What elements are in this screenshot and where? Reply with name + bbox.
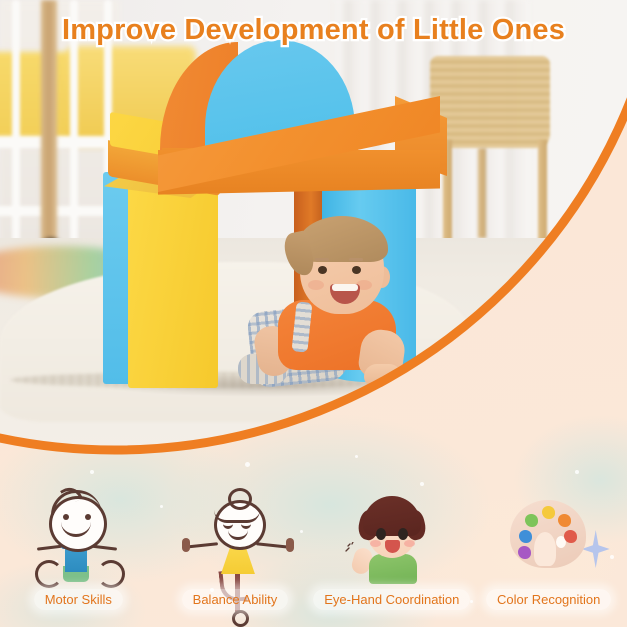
leg-left (35, 560, 63, 588)
motion-lines-icon (345, 542, 357, 554)
foam-block-yellow-tower (128, 186, 218, 388)
arm-right (256, 542, 290, 549)
feature-item-motor-skills[interactable]: Motor Skills (0, 470, 157, 627)
paint-dab (558, 514, 571, 527)
feature-label: Eye-Hand Coordination (313, 589, 470, 610)
eye (376, 528, 386, 540)
feature-item-eye-hand-coordination[interactable]: Eye-Hand Coordination (313, 470, 470, 627)
shirt (369, 554, 417, 584)
baby-eyebrow (349, 258, 363, 261)
hand-left (182, 538, 190, 552)
baby-eye (318, 266, 327, 274)
baby-eye (352, 266, 361, 274)
paint-dab (564, 530, 577, 543)
feature-item-color-recognition[interactable]: Color Recognition (470, 470, 627, 627)
sparkle-icon (582, 530, 610, 568)
hair-bun (228, 488, 252, 510)
eye (398, 528, 408, 540)
baby-cheek (308, 280, 324, 290)
woven-basket (430, 56, 550, 148)
feature-label: Color Recognition (486, 589, 611, 610)
product-photo (0, 0, 627, 470)
paint-dab (542, 506, 555, 519)
baby-teeth (332, 284, 358, 291)
basket-leg (538, 140, 547, 250)
product-feature-poster: Improve Development of Little Ones Motor… (0, 0, 627, 627)
palette-thumb-hole (534, 532, 556, 566)
feature-list: Motor Skills Balance Ability (0, 470, 627, 627)
baby-eyebrow (315, 258, 329, 261)
paint-palette-icon (494, 488, 604, 583)
foot (232, 610, 249, 627)
baby-crawling (238, 222, 420, 387)
hair (363, 496, 421, 536)
hand-right (286, 538, 294, 552)
cheek (404, 540, 415, 547)
cheek (370, 540, 381, 547)
paint-dab (519, 530, 532, 543)
leg-right (97, 560, 125, 588)
feature-item-balance-ability[interactable]: Balance Ability (157, 470, 314, 627)
feature-label: Balance Ability (182, 589, 289, 610)
baby-hand (364, 364, 402, 386)
product-photo-region (0, 0, 627, 470)
paint-dab (518, 546, 531, 559)
waving-boy-icon (337, 488, 447, 583)
feature-label: Motor Skills (34, 589, 123, 610)
basket-leg (478, 148, 486, 238)
balancing-girl-icon (180, 488, 290, 583)
meditating-child-icon (23, 488, 133, 583)
crib-rail (0, 136, 122, 148)
page-title: Improve Development of Little Ones (0, 14, 627, 47)
paint-dab (525, 514, 538, 527)
headband (214, 510, 260, 523)
